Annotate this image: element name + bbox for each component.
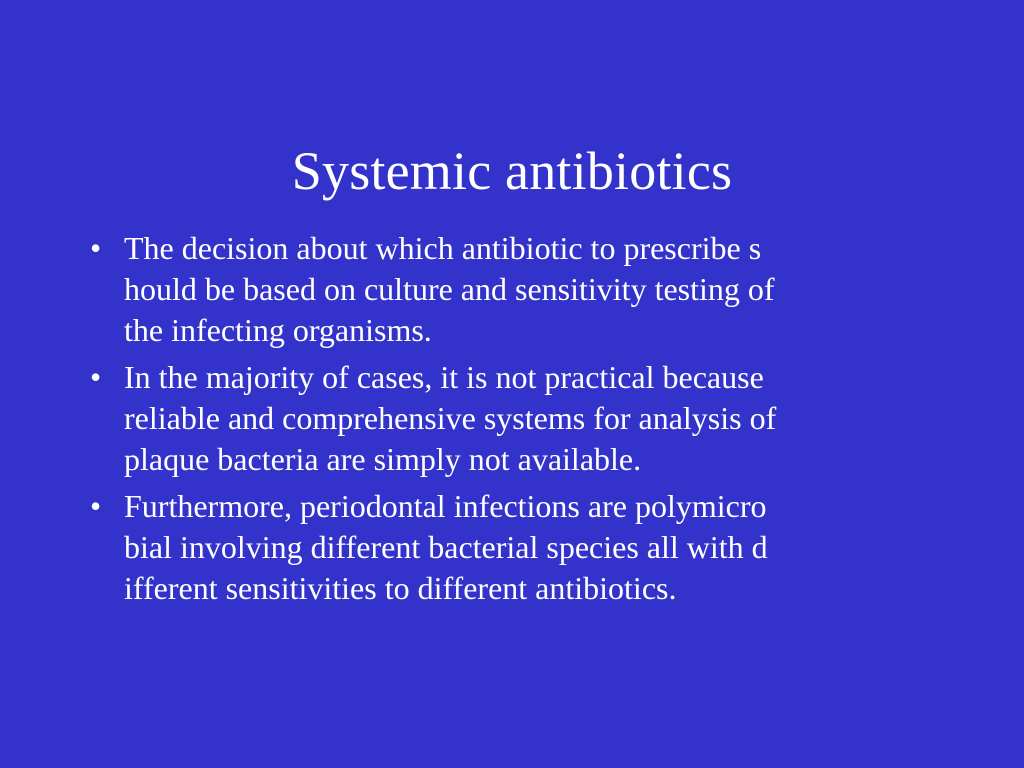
list-item-text: Furthermore, periodontal infections are … (124, 486, 956, 609)
list-item: • In the majority of cases, it is not pr… (84, 357, 956, 480)
slide-body-content: • The decision about which antibiotic to… (84, 228, 956, 615)
list-item-text: In the majority of cases, it is not prac… (124, 357, 956, 480)
list-item: • The decision about which antibiotic to… (84, 228, 956, 351)
presentation-slide: Systemic antibiotics • The decision abou… (0, 0, 1024, 768)
slide-title: Systemic antibiotics (0, 140, 1024, 202)
bullet-point-icon: • (90, 486, 112, 527)
list-item-text: The decision about which antibiotic to p… (124, 228, 956, 351)
list-item: • Furthermore, periodontal infections ar… (84, 486, 956, 609)
bullet-point-icon: • (90, 228, 112, 269)
bullet-point-icon: • (90, 357, 112, 398)
